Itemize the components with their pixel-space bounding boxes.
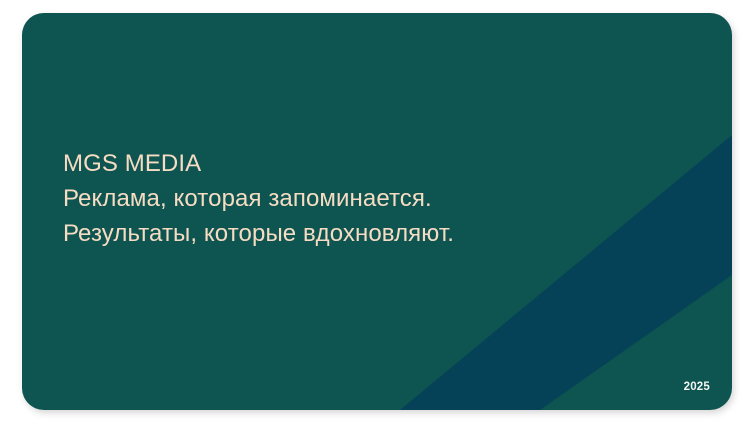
headline-line-tagline-2: Результаты, которые вдохновляют.: [63, 216, 683, 251]
slide-headline: MGS MEDIA Реклама, которая запоминается.…: [63, 146, 683, 251]
headline-line-brand: MGS MEDIA: [63, 146, 683, 181]
year-label: 2025: [684, 381, 710, 393]
headline-line-tagline-1: Реклама, которая запоминается.: [63, 181, 683, 216]
presentation-slide[interactable]: MGS MEDIA Реклама, которая запоминается.…: [22, 13, 732, 410]
slide-canvas: MGS MEDIA Реклама, которая запоминается.…: [0, 0, 753, 424]
